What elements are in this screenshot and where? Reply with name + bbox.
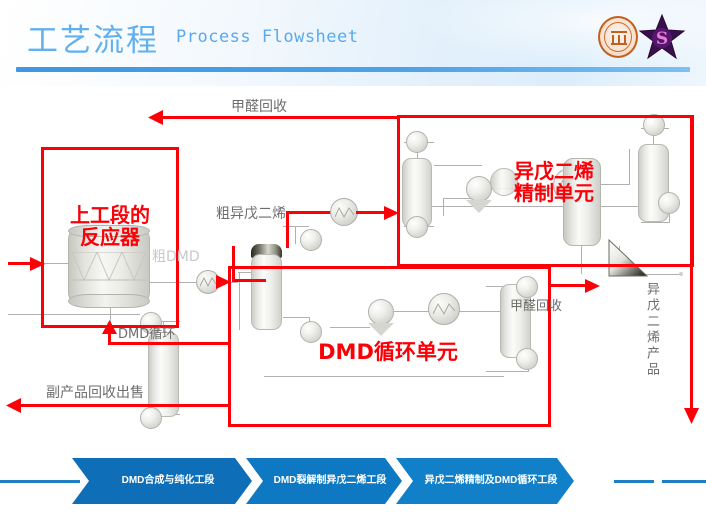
- label-crude-dmd: 粗DMD: [152, 246, 200, 266]
- unit-title-reactor-line1: 上工段的: [48, 204, 172, 226]
- purple-star-logo: S: [638, 13, 686, 61]
- hx-isoprene-zigzag-icon: [335, 206, 354, 220]
- stream-formaldehyde-top: [158, 116, 400, 119]
- stage-isoprene-refine[interactable]: 异戊二烯精制及DMD循环工段: [396, 458, 574, 504]
- arrow-isoprene-product-icon: [684, 408, 699, 424]
- slide-root: 工艺流程 Process Flowsheet S: [0, 0, 706, 524]
- stage-dmd-synthesis[interactable]: DMD合成与纯化工段: [72, 458, 252, 504]
- stage-dmd-synthesis-label: DMD合成与纯化工段: [122, 475, 215, 487]
- stage-isoprene-refine-label: 异戊二烯精制及DMD循环工段: [425, 475, 558, 487]
- stream-crude-isoprene-riser: [286, 214, 289, 248]
- unit-title-reactor: 上工段的 反应器: [48, 204, 172, 248]
- stream-crude-dmd-horiz: [232, 279, 266, 282]
- header-divider: [16, 67, 690, 72]
- university-seal-logo: [598, 16, 638, 58]
- pipe-col-b-top: [295, 226, 296, 244]
- stream-formaldehyde-right: [548, 284, 590, 287]
- label-isoprene-product: 异戊二烯产品: [642, 282, 661, 378]
- stream-crude-dmd-vert: [232, 246, 235, 282]
- stream-isoprene-product: [690, 116, 693, 413]
- unit-title-refining-line1: 异戊二烯: [492, 160, 616, 182]
- arrow-formaldehyde-top-icon: [148, 110, 164, 125]
- unit-title-dmd-recycle: DMD循环单元: [288, 341, 488, 363]
- arrow-crude-dmd-icon: [216, 275, 231, 289]
- unit-title-refining: 异戊二烯 精制单元: [492, 160, 616, 204]
- stage-line-left: [0, 480, 80, 483]
- pipe-node-valve: [679, 272, 683, 276]
- label-formaldehyde-recovery-top: 甲醛回收: [231, 96, 287, 116]
- reboiler-d: [140, 407, 162, 429]
- arrow-formaldehyde-right-icon: [585, 279, 600, 293]
- arrow-byproduct-icon: [6, 398, 22, 413]
- stream-crude-isoprene-top: [286, 211, 332, 214]
- stage-line-right-a: [614, 480, 654, 483]
- page-title-en: Process Flowsheet: [176, 27, 359, 47]
- process-flowsheet-canvas: 甲醛回收 粗异戊二烯 粗DMD DMD循环 副产品回收出售 甲醛回收 异戊二烯产…: [0, 86, 706, 438]
- page-title-cn: 工艺流程: [27, 15, 159, 60]
- stage-dmd-cracking[interactable]: DMD裂解制异戊二烯工段: [246, 458, 402, 504]
- unit-title-refining-line2: 精制单元: [492, 182, 616, 204]
- label-byproduct-recovery-sale: 副产品回收出售: [46, 382, 144, 402]
- stage-dmd-cracking-label: DMD裂解制异戊二烯工段: [274, 475, 387, 487]
- condenser-b: [300, 229, 322, 251]
- stage-line-right-b: [662, 480, 706, 483]
- stream-dmd-recycle-horiz: [108, 342, 228, 345]
- stage-banner: DMD合成与纯化工段 DMD裂解制异戊二烯工段 异戊二烯精制及DMD循环工段: [0, 438, 706, 524]
- unit-title-reactor-line2: 反应器: [48, 226, 172, 248]
- stream-byproduct: [16, 404, 228, 407]
- arrow-feed-in-icon: [30, 257, 45, 271]
- arrow-dmd-recycle-icon: [102, 320, 117, 334]
- label-crude-isoprene: 粗异戊二烯: [216, 203, 286, 223]
- arrow-crude-isoprene-icon: [384, 206, 399, 220]
- svg-text:S: S: [656, 29, 668, 49]
- hx-1-zigzag-icon: [200, 276, 216, 288]
- label-formaldehyde-recovery-right: 甲醛回收: [510, 295, 562, 314]
- label-dmd-recycle: DMD循环: [118, 323, 175, 342]
